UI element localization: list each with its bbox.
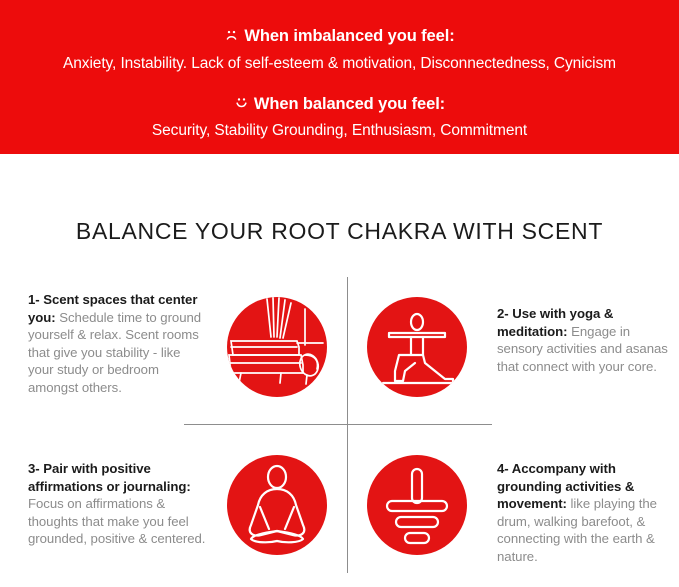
- electrical-ground-symbol-icon: [367, 455, 467, 555]
- tip-2-text: 2- Use with yoga & meditation: Engage in…: [497, 305, 677, 375]
- tip-4-text: 4- Accompany with grounding activities &…: [497, 460, 677, 565]
- vertical-divider: [347, 277, 348, 573]
- imbalanced-body-text: Anxiety, Instability. Lack of self-estee…: [0, 55, 679, 73]
- imbalanced-heading-text: When imbalanced you feel:: [244, 27, 454, 45]
- tip-3-lead: 3- Pair with positive affirmations or jo…: [28, 461, 191, 494]
- smiling-face-icon: [234, 96, 249, 115]
- meditating-lotus-pose-icon: [227, 455, 327, 555]
- tip-3-body: Focus on affirmations & thoughts that ma…: [28, 496, 205, 546]
- balanced-body-text: Security, Stability Grounding, Enthusias…: [0, 122, 679, 140]
- sofa-with-incense-icon: [227, 297, 327, 397]
- imbalanced-heading-row: When imbalanced you feel:: [0, 27, 679, 47]
- tip-3-text: 3- Pair with positive affirmations or jo…: [28, 460, 208, 548]
- balanced-heading-row: When balanced you feel:: [0, 95, 679, 115]
- horizontal-divider: [184, 424, 492, 425]
- tips-grid: 1- Scent spaces that center you: Schedul…: [0, 277, 679, 577]
- yoga-warrior-pose-icon: [367, 297, 467, 397]
- balanced-heading-text: When balanced you feel:: [254, 95, 445, 113]
- page-title: BALANCE YOUR ROOT CHAKRA WITH SCENT: [0, 218, 679, 245]
- tip-1-text: 1- Scent spaces that center you: Schedul…: [28, 291, 208, 396]
- chakra-feelings-banner: When imbalanced you feel: Anxiety, Insta…: [0, 0, 679, 154]
- frowning-face-icon: [224, 28, 239, 47]
